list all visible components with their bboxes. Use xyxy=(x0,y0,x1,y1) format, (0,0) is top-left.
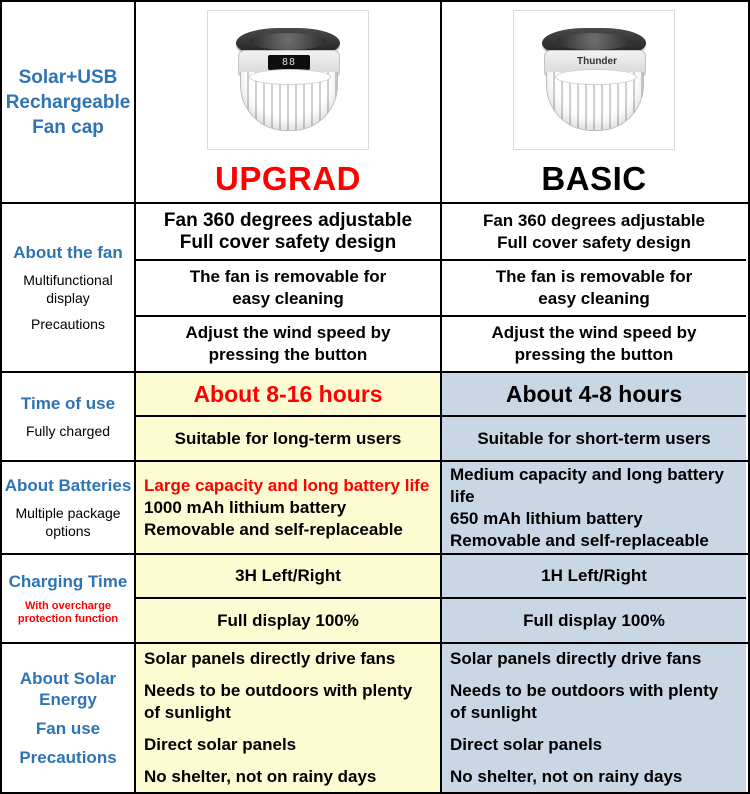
section-cells-basic: Medium capacity and long battery life650… xyxy=(442,462,746,553)
value-cell: About 8-16 hours xyxy=(136,373,440,417)
value-line: About 4-8 hours xyxy=(442,380,746,408)
fan-display-readout: 88 xyxy=(268,55,310,70)
value-line: 3H Left/Right xyxy=(136,565,440,587)
value-line: 650 mAh lithium battery xyxy=(442,508,746,530)
value-cell: 1H Left/Right xyxy=(442,555,746,599)
value-cell: Suitable for short-term users xyxy=(442,417,746,460)
section-label-1: Multifunctional display xyxy=(2,271,134,307)
value-cell: Solar panels directly drive fansNeeds to… xyxy=(442,644,746,792)
value-line: Full display 100% xyxy=(442,610,746,632)
value-cell: About 4-8 hours xyxy=(442,373,746,417)
section-cells-upgrade: Solar panels directly drive fansNeeds to… xyxy=(136,644,442,792)
section-row: About the fanMultifunctional displayPrec… xyxy=(2,204,748,373)
value-line: Suitable for long-term users xyxy=(136,428,440,450)
value-line: Removable and self-replaceable xyxy=(442,530,746,552)
section-label-0: Time of use xyxy=(21,393,115,414)
value-line: 1H Left/Right xyxy=(442,565,746,587)
value-cell: Large capacity and long battery life1000… xyxy=(136,462,440,553)
value-line: Large capacity and long battery life xyxy=(136,475,440,497)
section-label-1: Multiple package options xyxy=(2,504,134,540)
value-line: Solar panels directly drive fans xyxy=(136,648,440,670)
section-label-0: About Solar Energy xyxy=(2,668,134,710)
value-cell: Suitable for long-term users xyxy=(136,417,440,460)
value-line: Needs to be outdoors with plenty of sunl… xyxy=(442,680,746,724)
section-label-2: Precautions xyxy=(31,315,105,333)
value-line: No shelter, not on rainy days xyxy=(442,766,746,788)
section-label-0: Charging Time xyxy=(9,571,128,592)
value-line: Adjust the wind speed by xyxy=(136,322,440,344)
section-label-0: About Batteries xyxy=(5,475,132,496)
value-line: Full cover safety design xyxy=(136,232,440,254)
value-line: easy cleaning xyxy=(136,288,440,310)
fan-cap-icon: Thunder xyxy=(528,24,660,136)
value-cell: Full display 100% xyxy=(442,599,746,642)
sections-host: About the fanMultifunctional displayPrec… xyxy=(2,204,748,792)
section-label-0: About the fan xyxy=(13,242,123,263)
value-cell: Fan 360 degrees adjustableFull cover saf… xyxy=(442,204,746,261)
value-line: Medium capacity and long battery life xyxy=(442,464,746,508)
value-line: 1000 mAh lithium battery xyxy=(136,497,440,519)
value-cell: Solar panels directly drive fansNeeds to… xyxy=(136,644,440,792)
value-cell: Fan 360 degrees adjustableFull cover saf… xyxy=(136,204,440,261)
value-line: Solar panels directly drive fans xyxy=(442,648,746,670)
section-row: About BatteriesMultiple package optionsL… xyxy=(2,462,748,555)
comparison-table: Solar+USB Rechargeable Fan cap 88 UPGRAD xyxy=(0,0,750,794)
value-line: The fan is removable for xyxy=(442,266,746,288)
value-line: Full display 100% xyxy=(136,610,440,632)
section-label-1: With overcharge protection function xyxy=(2,600,134,626)
section-label-1: Fully charged xyxy=(26,422,110,440)
section-label-cell: About BatteriesMultiple package options xyxy=(2,462,136,553)
section-cells-basic: Fan 360 degrees adjustableFull cover saf… xyxy=(442,204,746,371)
value-line: Adjust the wind speed by xyxy=(442,322,746,344)
value-line: Needs to be outdoors with plenty of sunl… xyxy=(136,680,440,724)
value-line: Fan 360 degrees adjustable xyxy=(442,210,746,232)
value-line: pressing the button xyxy=(442,344,746,366)
section-cells-basic: About 4-8 hoursSuitable for short-term u… xyxy=(442,373,746,460)
value-cell: The fan is removable foreasy cleaning xyxy=(442,261,746,316)
section-cells-upgrade: Large capacity and long battery life1000… xyxy=(136,462,442,553)
product-image-upgrade: 88 xyxy=(207,10,369,150)
product-name-basic: BASIC xyxy=(541,160,646,198)
section-row: Time of useFully chargedAbout 8-16 hours… xyxy=(2,373,748,462)
section-label-cell: About the fanMultifunctional displayPrec… xyxy=(2,204,136,371)
value-line: The fan is removable for xyxy=(136,266,440,288)
fan-cap-icon: 88 xyxy=(222,24,354,136)
product-column-upgrade: 88 UPGRAD xyxy=(136,2,442,202)
value-line: Full cover safety design xyxy=(442,232,746,254)
product-category-label: Solar+USB Rechargeable Fan cap xyxy=(2,65,134,140)
section-label-2: Precautions xyxy=(19,747,116,768)
value-line: pressing the button xyxy=(136,344,440,366)
value-line: Fan 360 degrees adjustable xyxy=(136,210,440,232)
section-cells-upgrade: About 8-16 hoursSuitable for long-term u… xyxy=(136,373,442,460)
value-cell: Adjust the wind speed bypressing the but… xyxy=(442,317,746,371)
value-line: Suitable for short-term users xyxy=(442,428,746,450)
value-cell: The fan is removable foreasy cleaning xyxy=(136,261,440,316)
value-line: No shelter, not on rainy days xyxy=(136,766,440,788)
section-cells-upgrade: Fan 360 degrees adjustableFull cover saf… xyxy=(136,204,442,371)
value-line: Removable and self-replaceable xyxy=(136,519,440,541)
section-cells-basic: 1H Left/RightFull display 100% xyxy=(442,555,746,642)
section-label-cell: Time of useFully charged xyxy=(2,373,136,460)
value-line: Direct solar panels xyxy=(442,734,746,756)
product-image-basic: Thunder xyxy=(513,10,675,150)
value-cell: Adjust the wind speed bypressing the but… xyxy=(136,317,440,371)
value-line: easy cleaning xyxy=(442,288,746,310)
section-row: Charging TimeWith overcharge protection … xyxy=(2,555,748,644)
section-label-cell: Charging TimeWith overcharge protection … xyxy=(2,555,136,642)
product-column-basic: Thunder BASIC xyxy=(442,2,746,202)
value-cell: Full display 100% xyxy=(136,599,440,642)
product-name-upgrade: UPGRAD xyxy=(215,160,361,198)
header-row: Solar+USB Rechargeable Fan cap 88 UPGRAD xyxy=(2,2,748,204)
section-label-1: Fan use xyxy=(36,718,100,739)
header-label-cell: Solar+USB Rechargeable Fan cap xyxy=(2,2,136,202)
section-label-cell: About Solar EnergyFan usePrecautions xyxy=(2,644,136,792)
section-cells-basic: Solar panels directly drive fansNeeds to… xyxy=(442,644,746,792)
fan-brand-text: Thunder xyxy=(554,54,640,70)
section-row: About Solar EnergyFan usePrecautionsSola… xyxy=(2,644,748,792)
value-line: Direct solar panels xyxy=(136,734,440,756)
value-cell: 3H Left/Right xyxy=(136,555,440,599)
value-cell: Medium capacity and long battery life650… xyxy=(442,462,746,553)
value-line: About 8-16 hours xyxy=(136,380,440,408)
section-cells-upgrade: 3H Left/RightFull display 100% xyxy=(136,555,442,642)
